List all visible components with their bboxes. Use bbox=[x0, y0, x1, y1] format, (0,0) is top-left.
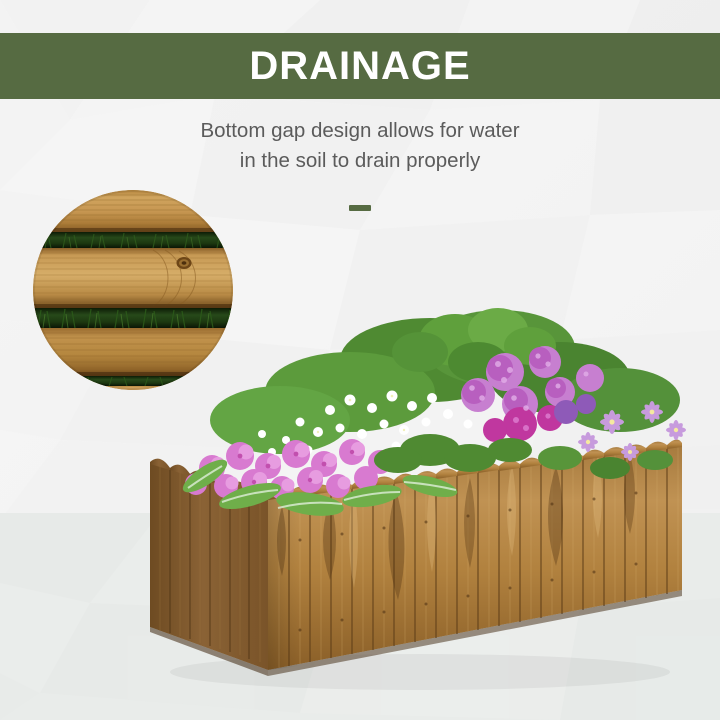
planter-product-photo bbox=[0, 300, 720, 720]
product-feature-slide: DRAINAGE Bottom gap design allows for wa… bbox=[0, 0, 720, 720]
page-title: DRAINAGE bbox=[249, 46, 470, 86]
wood-knot-icon bbox=[177, 257, 192, 269]
planter-illustration bbox=[0, 300, 720, 720]
subtitle-line-1: Bottom gap design allows for water bbox=[0, 116, 720, 146]
subtitle: Bottom gap design allows for water in th… bbox=[0, 116, 720, 176]
subtitle-line-2: in the soil to drain properly bbox=[0, 146, 720, 176]
divider-dash bbox=[349, 205, 371, 211]
header-banner: DRAINAGE bbox=[0, 33, 720, 99]
